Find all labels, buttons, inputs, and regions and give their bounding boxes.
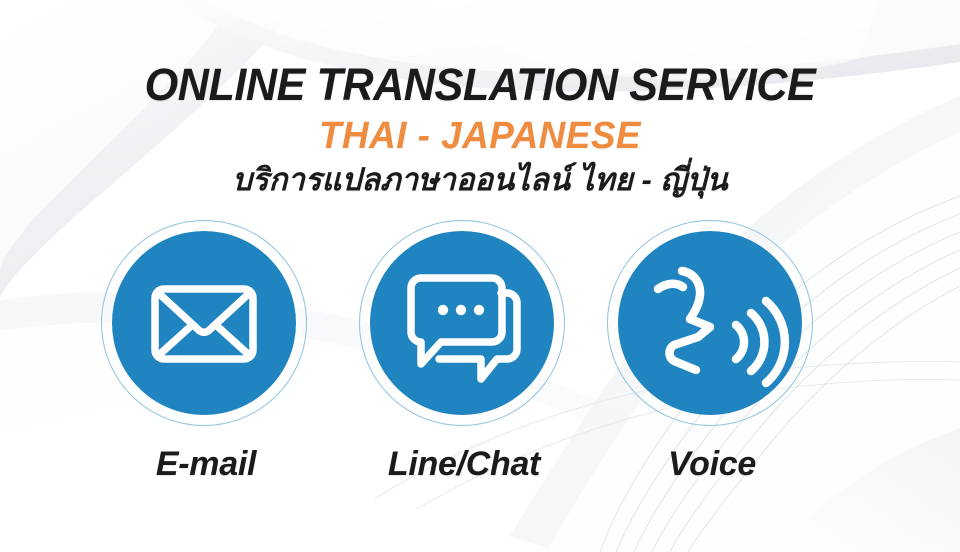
chat-bubbles-icon — [370, 231, 554, 415]
line-chat-circle[interactable] — [358, 219, 570, 431]
service-label-line-chat: Line/Chat — [358, 445, 570, 484]
headline-block: ONLINE TRANSLATION SERVICE THAI - JAPANE… — [0, 60, 960, 199]
circle-disc — [370, 231, 554, 415]
circle-disc — [618, 231, 802, 415]
service-item-line-chat[interactable]: Line/Chat — [358, 219, 570, 484]
banner-content: ONLINE TRANSLATION SERVICE THAI - JAPANE… — [0, 0, 960, 552]
circle-disc — [112, 231, 296, 415]
language-pair-title: THAI - JAPANESE — [14, 114, 945, 158]
service-channels: E-mail — [0, 219, 960, 499]
voice-circle[interactable] — [606, 219, 818, 431]
speaking-face-icon — [618, 231, 802, 415]
service-item-email[interactable]: E-mail — [100, 219, 312, 484]
service-label-voice: Voice — [606, 445, 818, 484]
service-label-email: E-mail — [100, 445, 312, 484]
thai-subtitle: บริการแปลภาษาออนไลน์ ไทย - ญี่ปุ่น — [0, 161, 960, 199]
page-title: ONLINE TRANSLATION SERVICE — [19, 60, 941, 110]
envelope-icon — [112, 231, 296, 415]
email-circle[interactable] — [100, 219, 312, 431]
translation-service-banner: ONLINE TRANSLATION SERVICE THAI - JAPANE… — [0, 0, 960, 552]
service-item-voice[interactable]: Voice — [606, 219, 818, 484]
typing-dots-icon — [438, 305, 484, 315]
